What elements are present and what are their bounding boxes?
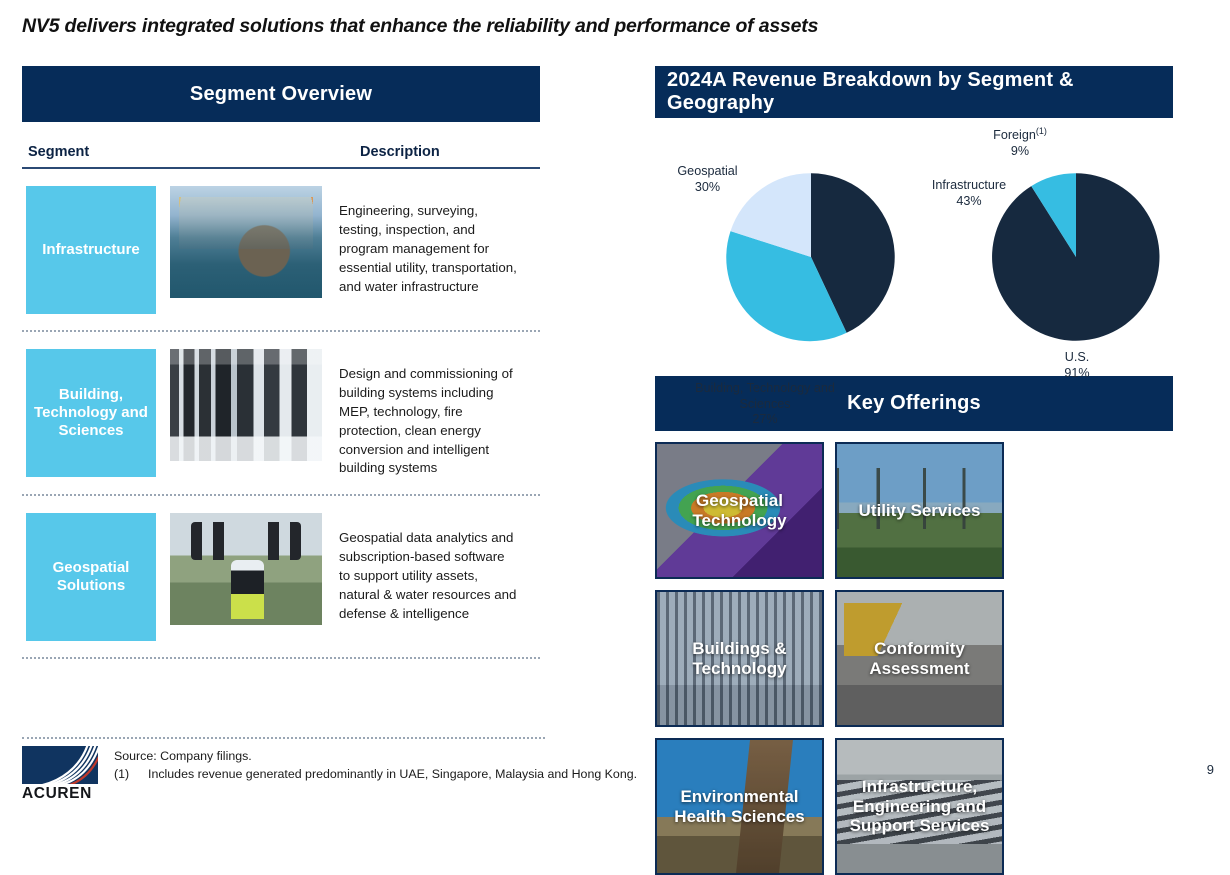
slide-footer: ACUREN Source: Company filings. (1) Incl… bbox=[22, 737, 1208, 803]
footer-note: (1) Includes revenue generated predomina… bbox=[114, 766, 637, 784]
key-offering-tile-infrastructure-engineering-support[interactable]: Infrastructure, Engineering and Support … bbox=[835, 738, 1004, 875]
drone-surveyor-photo bbox=[170, 513, 322, 625]
revenue-breakdown-header: 2024A Revenue Breakdown by Segment & Geo… bbox=[655, 66, 1173, 118]
key-offerings-grid: Geospatial Technology Utility Services B… bbox=[655, 442, 1173, 875]
segment-chip-geospatial-solutions: Geospatial Solutions bbox=[26, 513, 156, 641]
table-row: Geospatial Solutions Geospatial data ana… bbox=[22, 494, 540, 659]
tile-label: Conformity Assessment bbox=[837, 639, 1002, 678]
tile-label: Buildings & Technology bbox=[657, 639, 822, 678]
segment-overview-panel: Segment Overview Segment Description Inf… bbox=[22, 66, 540, 659]
segment-chip-infrastructure: Infrastructure bbox=[26, 186, 156, 314]
footer-divider bbox=[22, 737, 545, 739]
pie-label-building-name2: Sciences bbox=[739, 397, 790, 411]
geography-pie-chart bbox=[985, 166, 1167, 353]
column-header-segment: Segment bbox=[28, 144, 360, 160]
tile-label: Infrastructure, Engineering and Support … bbox=[837, 777, 1002, 835]
footer-text: Source: Company filings. (1) Includes re… bbox=[114, 746, 637, 784]
pie-label-building-value: 27% bbox=[752, 412, 777, 426]
segment-description-building: Design and commissioning of building sys… bbox=[339, 349, 519, 478]
footer-note-text: Includes revenue generated predominantly… bbox=[148, 766, 637, 784]
key-offering-tile-geospatial-technology[interactable]: Geospatial Technology bbox=[655, 442, 824, 579]
table-row: Building, Technology and Sciences Design… bbox=[22, 330, 540, 494]
acuren-logo-text: ACUREN bbox=[22, 785, 98, 803]
segment-description-geospatial: Geospatial data analytics and subscripti… bbox=[339, 513, 519, 623]
infrastructure-construction-photo bbox=[170, 186, 322, 298]
pie-label-us: U.S. 91% bbox=[1037, 350, 1117, 381]
table-row: Infrastructure Engineering, surveying, t… bbox=[22, 169, 540, 330]
segment-table-header: Segment Description bbox=[22, 144, 540, 169]
footnote-marker: (1) bbox=[1036, 126, 1047, 136]
segment-chip-building-technology-sciences: Building, Technology and Sciences bbox=[26, 349, 156, 477]
pie-label-geospatial-name: Geospatial bbox=[677, 164, 737, 178]
acuren-logo: ACUREN bbox=[22, 746, 98, 803]
pie-label-geospatial-value: 30% bbox=[695, 180, 720, 194]
footer-note-number: (1) bbox=[114, 766, 148, 784]
pie-label-infrastructure-value: 43% bbox=[956, 194, 981, 208]
slide: NV5 delivers integrated solutions that e… bbox=[0, 0, 1230, 798]
page-title: NV5 delivers integrated solutions that e… bbox=[22, 15, 1122, 38]
pie-label-foreign: Foreign(1) 9% bbox=[965, 126, 1075, 159]
pie-label-us-value: 91% bbox=[1064, 366, 1089, 380]
pie-label-us-name: U.S. bbox=[1065, 350, 1090, 364]
tile-label: Utility Services bbox=[853, 501, 987, 520]
page-number: 9 bbox=[1207, 762, 1214, 777]
key-offering-tile-environmental-health-sciences[interactable]: Environmental Health Sciences bbox=[655, 738, 824, 875]
acuren-logo-mark bbox=[22, 746, 98, 784]
pie-label-building: Building, Technology and Sciences 27% bbox=[660, 381, 870, 428]
pie-label-foreign-value: 9% bbox=[1011, 144, 1029, 158]
data-center-photo bbox=[170, 349, 322, 461]
segment-overview-header: Segment Overview bbox=[22, 66, 540, 122]
revenue-pie-charts: Geospatial 30% Infrastructure 43% Buildi… bbox=[655, 118, 1173, 376]
tile-label: Geospatial Technology bbox=[657, 491, 822, 530]
tile-label: Environmental Health Sciences bbox=[657, 787, 822, 826]
pie-label-building-name: Building, Technology and bbox=[695, 381, 835, 395]
segment-description-infrastructure: Engineering, surveying, testing, inspect… bbox=[339, 186, 519, 296]
footer-source: Source: Company filings. bbox=[114, 748, 637, 766]
key-offering-tile-buildings-technology[interactable]: Buildings & Technology bbox=[655, 590, 824, 727]
key-offering-tile-utility-services[interactable]: Utility Services bbox=[835, 442, 1004, 579]
column-header-description: Description bbox=[360, 144, 534, 160]
swoosh-icon bbox=[22, 746, 98, 784]
geography-pie-svg bbox=[985, 166, 1167, 348]
pie-label-foreign-name: Foreign bbox=[993, 128, 1036, 142]
pie-label-geospatial: Geospatial 30% bbox=[655, 164, 760, 195]
key-offering-tile-conformity-assessment[interactable]: Conformity Assessment bbox=[835, 590, 1004, 727]
